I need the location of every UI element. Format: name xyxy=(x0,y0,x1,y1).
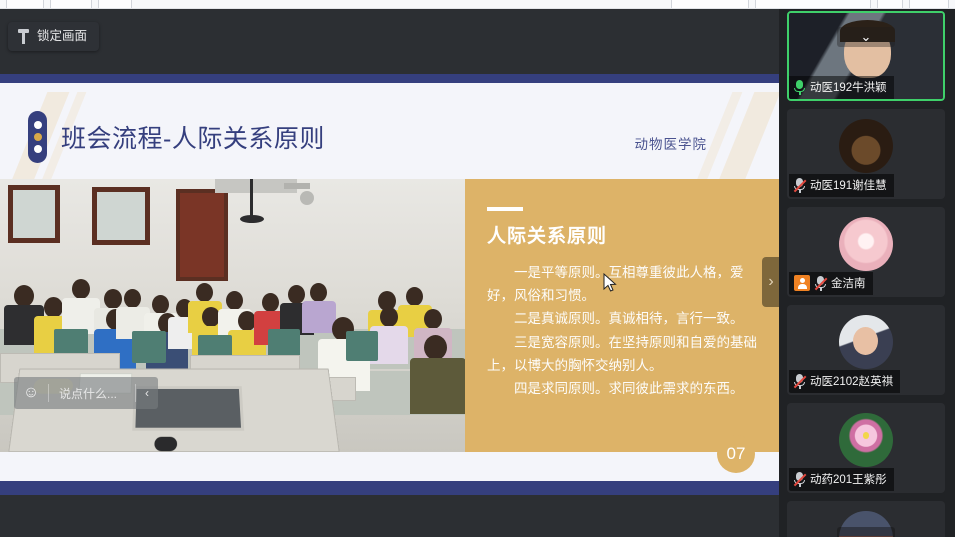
participant-footer: 动医2102赵英祺 xyxy=(789,370,900,393)
panel-paragraph: 三是宽容原则。在坚持原则和自爱的基础上，以博大的胸怀交纳别人。 xyxy=(487,332,759,378)
panel-paragraph: 一是平等原则。互相尊重彼此人格，爱好，风俗和习惯。 xyxy=(487,262,759,308)
pin-icon xyxy=(17,29,30,44)
microphone-muted-icon xyxy=(794,374,805,389)
participant-tile[interactable]: 动药201王紫彤 xyxy=(787,403,945,493)
title-decoration-icon xyxy=(28,111,47,163)
participant-name: 动医191谢佳慧 xyxy=(810,177,887,193)
participant-name: 动药201王紫彤 xyxy=(810,471,887,487)
participant-tile[interactable]: 金洁南 xyxy=(787,207,945,297)
presentation-slide: 班会流程-人际关系原则 动物医学院 xyxy=(0,74,779,495)
participant-tile[interactable]: 动医2102赵英祺 xyxy=(787,305,945,395)
toolbar-button-1[interactable] xyxy=(6,0,44,9)
participant-footer: 动医192牛洪颖 xyxy=(789,76,894,99)
toolbar-button-4[interactable] xyxy=(671,0,749,9)
toolbar-button-5[interactable] xyxy=(755,0,871,9)
page-title: 班会流程-人际关系原则 xyxy=(61,119,325,155)
participant-tile[interactable]: 动医191谢佳慧 xyxy=(787,109,945,199)
panel-paragraph: 二是真诚原则。真诚相待，言行一致。 xyxy=(487,308,759,331)
slide-header: 班会流程-人际关系原则 动物医学院 xyxy=(0,83,779,179)
toolbar-button-6[interactable] xyxy=(877,0,903,9)
slide-bottom-bar xyxy=(0,481,779,495)
participant-name: 动医2102赵英祺 xyxy=(810,373,893,389)
microphone-muted-icon xyxy=(794,178,805,193)
slide-title-group: 班会流程-人际关系原则 xyxy=(28,111,325,163)
organization-label: 动物医学院 xyxy=(635,133,708,153)
chat-input[interactable]: 说点什么... xyxy=(49,385,135,402)
next-slide-button[interactable]: › xyxy=(762,257,779,307)
emoji-smiley-icon[interactable]: ☺ xyxy=(14,377,48,409)
participant-name: 金洁南 xyxy=(831,275,866,291)
avatar xyxy=(839,315,893,369)
chevron-down-icon[interactable]: ⌄ xyxy=(837,527,895,537)
host-badge-icon xyxy=(794,275,810,291)
slide-text-panel: 人际关系原则 一是平等原则。互相尊重彼此人格，爱好，风俗和习惯。 二是真诚原则。… xyxy=(465,179,779,452)
chat-input-bar[interactable]: ☺ 说点什么... ‹ xyxy=(14,377,158,409)
slide-page-number: 07 xyxy=(717,435,755,473)
classroom-photo xyxy=(0,179,465,452)
app-toolbar xyxy=(0,0,955,9)
participant-tile[interactable]: ⌄ xyxy=(787,501,945,537)
microphone-on-icon xyxy=(794,80,805,95)
toolbar-button-2[interactable] xyxy=(50,0,92,9)
participants-rail[interactable]: ⌄ 动医192牛洪颖 动医191谢佳慧 金洁南 xyxy=(779,9,955,537)
slide-top-bar xyxy=(0,74,779,83)
participant-footer: 动药201王紫彤 xyxy=(789,468,894,491)
toolbar-button-3[interactable] xyxy=(98,0,132,9)
participant-footer: 金洁南 xyxy=(789,272,873,295)
panel-heading: 人际关系原则 xyxy=(487,221,759,248)
lock-screen-button[interactable]: 锁定画面 xyxy=(8,22,99,51)
screen-share-stage: 锁定画面 班会流程-人际关系原则 动物医学院 xyxy=(0,9,779,537)
toolbar-button-7[interactable] xyxy=(909,0,949,9)
avatar xyxy=(839,119,893,173)
chevron-left-icon[interactable]: ‹ xyxy=(136,377,158,409)
header-decor-stripe xyxy=(716,92,779,179)
participant-tile[interactable]: ⌄ 动医192牛洪颖 xyxy=(787,11,945,101)
microphone-muted-icon xyxy=(794,472,805,487)
avatar xyxy=(839,217,893,271)
panel-paragraph: 四是求同原则。求同彼此需求的东西。 xyxy=(487,378,759,401)
chevron-up-icon[interactable]: ⌄ xyxy=(837,27,895,47)
lock-screen-label: 锁定画面 xyxy=(37,30,87,43)
participant-footer: 动医191谢佳慧 xyxy=(789,174,894,197)
slide-body: 人际关系原则 一是平等原则。互相尊重彼此人格，爱好，风俗和习惯。 二是真诚原则。… xyxy=(0,179,779,452)
avatar xyxy=(839,413,893,467)
participant-name: 动医192牛洪颖 xyxy=(810,79,887,95)
panel-accent-rule xyxy=(487,207,523,211)
microphone-muted-icon xyxy=(815,276,826,291)
